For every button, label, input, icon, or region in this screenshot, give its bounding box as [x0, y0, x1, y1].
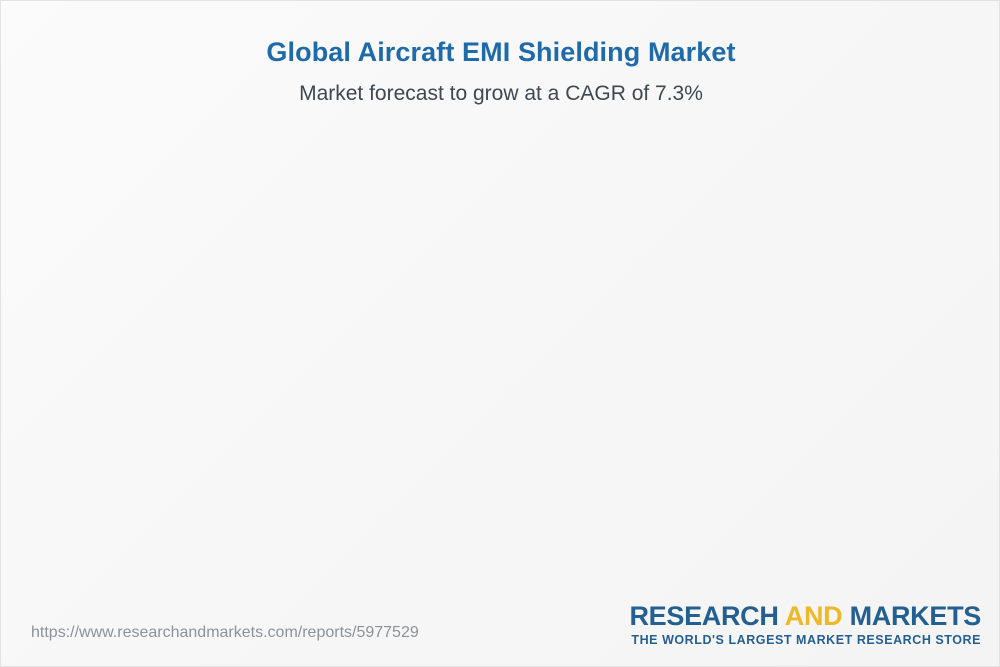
logo-word-research: RESEARCH: [629, 601, 778, 631]
brand-logo[interactable]: RESEARCH AND MARKETS THE WORLD'S LARGEST…: [629, 601, 981, 648]
report-url[interactable]: https://www.researchandmarkets.com/repor…: [31, 623, 419, 643]
chart-plot-area: USD 1.1 Billion 2024 USD 1.67 Billion: [1, 1, 1000, 667]
logo-tagline: THE WORLD'S LARGEST MARKET RESEARCH STOR…: [629, 632, 981, 648]
logo-wordmark: RESEARCH AND MARKETS: [629, 601, 981, 631]
logo-word-markets: MARKETS: [850, 601, 981, 631]
infographic-canvas: Global Aircraft EMI Shielding Market Mar…: [0, 0, 1000, 667]
logo-word-and: AND: [785, 601, 843, 631]
